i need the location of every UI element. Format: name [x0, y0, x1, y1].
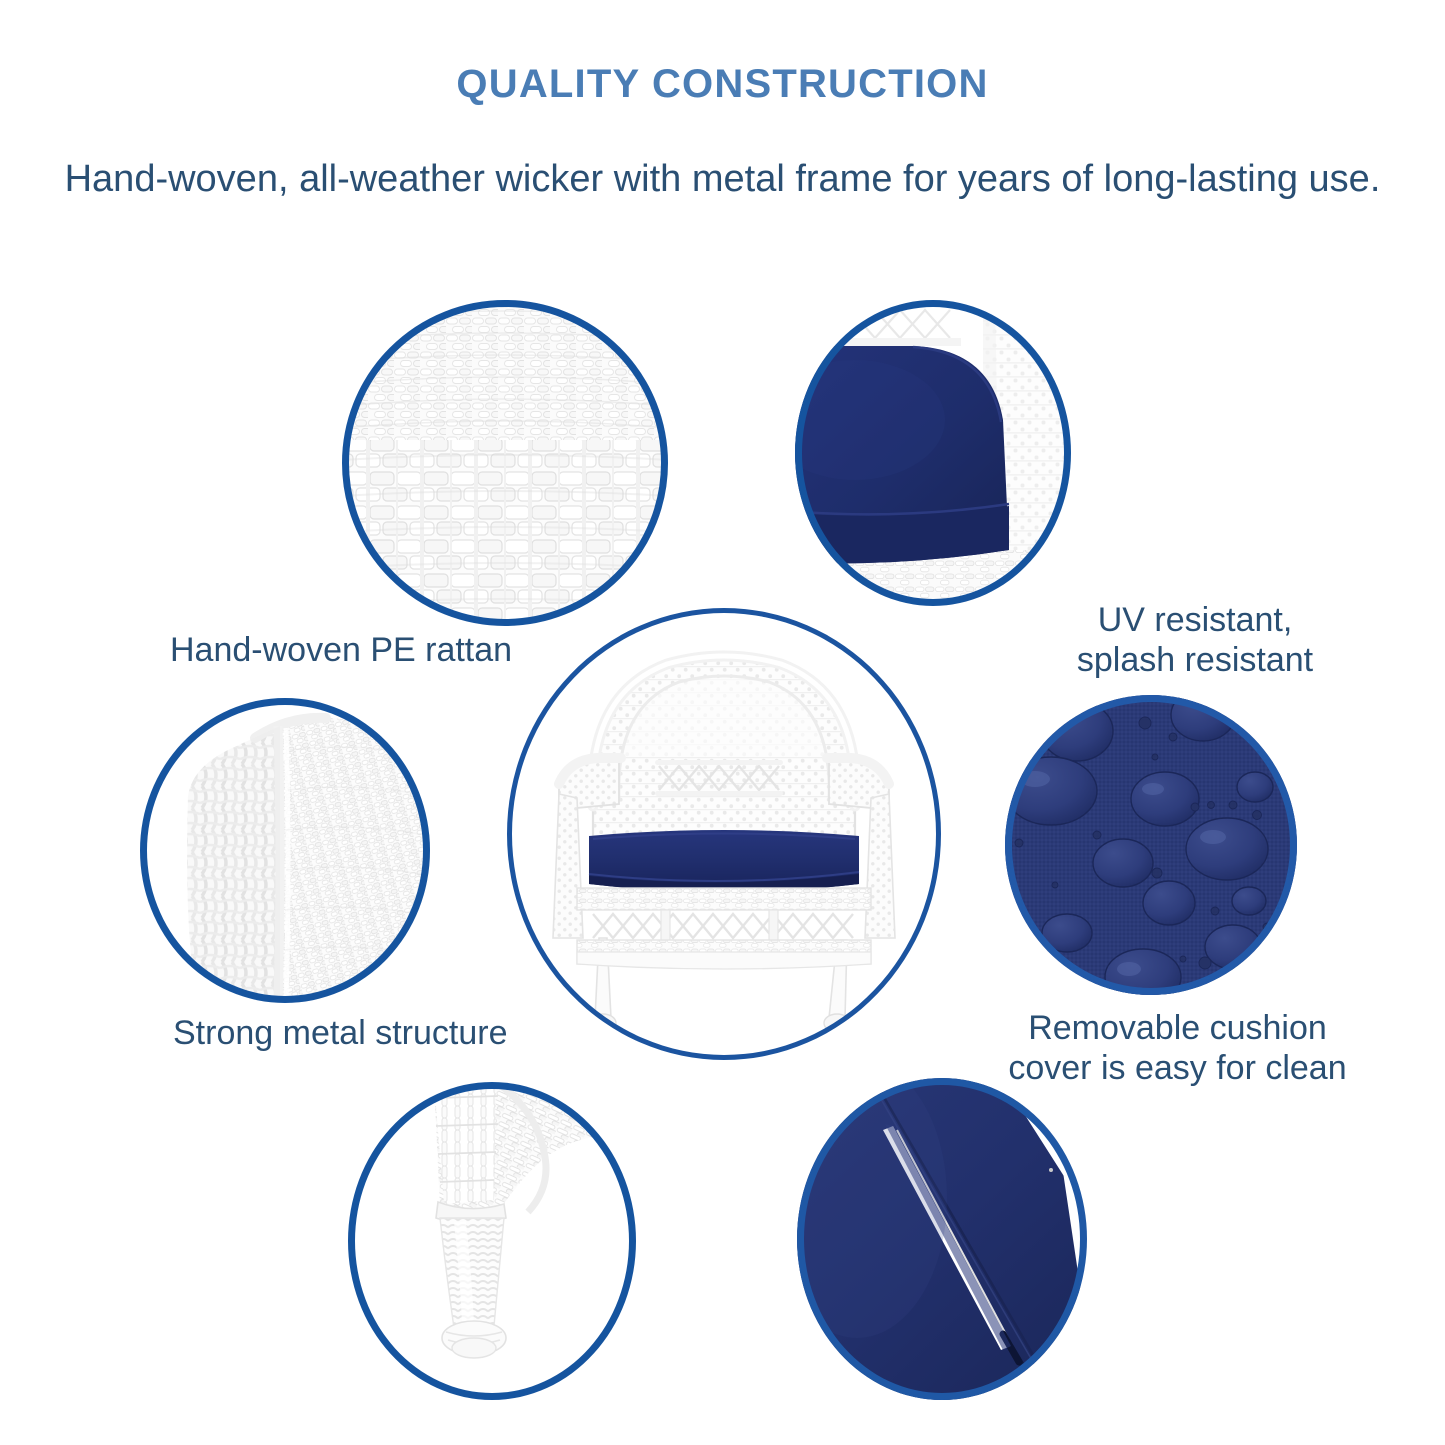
white-wicker-chair-leg-graphic	[348, 1082, 636, 1400]
feature-caption-hand-woven-pe-rattan: Hand-woven PE rattan	[170, 630, 512, 670]
feature-image-full-chair	[507, 608, 941, 1060]
feature-image-hand-woven-pe-rattan	[342, 300, 668, 626]
page-title: QUALITY CONSTRUCTION	[0, 62, 1445, 107]
feature-caption-uv-splash-resistant: UV resistant, splash resistant	[1045, 600, 1345, 680]
feature-image-chair-leg-detail	[348, 1082, 636, 1400]
feature-image-strong-metal-structure	[140, 698, 430, 1003]
white-wicker-weave-graphic	[342, 300, 668, 626]
white-wicker-chair-graphic	[507, 608, 941, 1060]
navy-cushion-zipper-graphic	[797, 1078, 1087, 1400]
quality-construction-infographic: QUALITY CONSTRUCTION Hand-woven, all-wea…	[0, 0, 1445, 1445]
feature-caption-removable-cushion-cover: Removable cushion cover is easy for clea…	[1005, 1008, 1350, 1088]
feature-image-removable-cushion-cover	[1005, 695, 1297, 995]
feature-caption-strong-metal-structure: Strong metal structure	[173, 1013, 507, 1053]
white-wicker-corner-graphic	[140, 698, 430, 1003]
water-droplets-graphic	[1005, 695, 1297, 995]
feature-image-cushion-zipper-detail	[797, 1078, 1087, 1400]
feature-image-uv-splash-resistant	[795, 300, 1071, 606]
page-subtitle: Hand-woven, all-weather wicker with meta…	[0, 158, 1445, 201]
navy-cushion-graphic	[795, 300, 1071, 606]
